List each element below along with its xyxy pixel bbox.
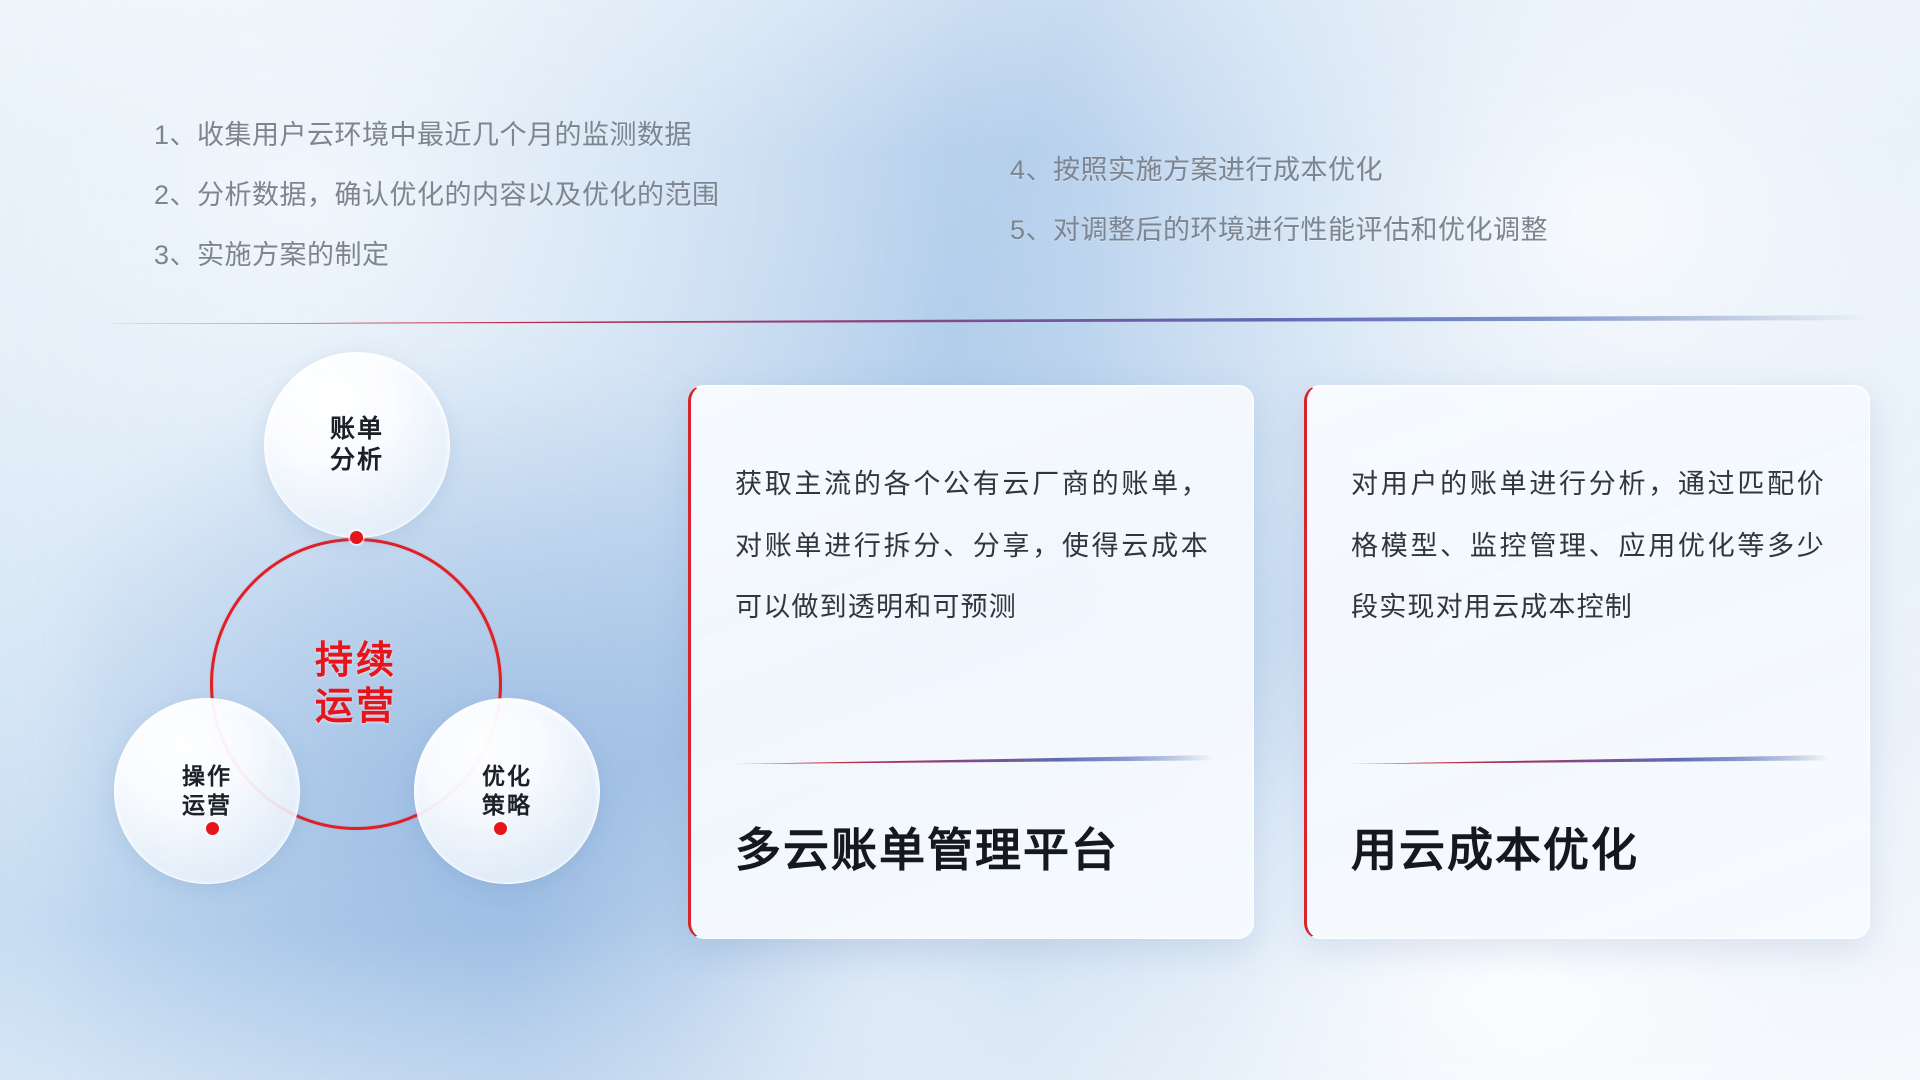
card-title: 多云账单管理平台	[735, 814, 1119, 880]
diagram-node-dot-icon	[206, 822, 219, 835]
card-divider	[1351, 755, 1829, 764]
node-label-line-2: 策略	[482, 791, 532, 820]
step-item: 1、收集用户云环境中最近几个月的监测数据	[154, 122, 720, 149]
step-item: 5、对调整后的环境进行性能评估和优化调整	[1010, 217, 1548, 244]
feature-card-billing-platform[interactable]: 获取主流的各个公有云厂商的账单，对账单进行拆分、分享，使得云成本可以做到透明和可…	[688, 385, 1254, 939]
diagram-node-optimization-strategy[interactable]: 优化 策略	[414, 698, 600, 884]
diagram-node-billing-analysis[interactable]: 账单 分析	[264, 352, 450, 538]
steps-list-right: 4、按照实施方案进行成本优化 5、对调整后的环境进行性能评估和优化调整	[1010, 157, 1548, 244]
node-label-line-1: 优化	[482, 762, 532, 791]
slide-canvas: 1、收集用户云环境中最近几个月的监测数据 2、分析数据，确认优化的内容以及优化的…	[0, 0, 1920, 1080]
node-label-line-1: 操作	[182, 762, 232, 791]
node-label-line-1: 账单	[330, 414, 384, 446]
node-label-line-2: 运营	[182, 791, 232, 820]
feature-card-cost-optimization[interactable]: 对用户的账单进行分析，通过匹配价格模型、监控管理、应用优化等多少段实现对用云成本…	[1304, 385, 1870, 939]
step-item: 2、分析数据，确认优化的内容以及优化的范围	[154, 182, 720, 209]
center-label-line-2: 运营	[315, 684, 397, 730]
diagram-node-dot-icon	[494, 822, 507, 835]
card-title: 用云成本优化	[1351, 814, 1639, 880]
steps-list-left: 1、收集用户云环境中最近几个月的监测数据 2、分析数据，确认优化的内容以及优化的…	[154, 122, 720, 269]
card-divider	[735, 755, 1213, 764]
center-label-line-1: 持续	[315, 638, 397, 684]
cycle-diagram: 持续 运营 账单 分析 操作 运营 优化 策略	[96, 352, 656, 932]
step-item: 3、实施方案的制定	[154, 242, 720, 269]
node-label-line-2: 分析	[330, 445, 384, 477]
card-description: 对用户的账单进行分析，通过匹配价格模型、监控管理、应用优化等多少段实现对用云成本…	[1351, 454, 1825, 639]
diagram-node-dot-icon	[350, 531, 363, 544]
diagram-node-operations[interactable]: 操作 运营	[114, 698, 300, 884]
card-description: 获取主流的各个公有云厂商的账单，对账单进行拆分、分享，使得云成本可以做到透明和可…	[735, 454, 1209, 639]
step-item: 4、按照实施方案进行成本优化	[1010, 157, 1548, 184]
